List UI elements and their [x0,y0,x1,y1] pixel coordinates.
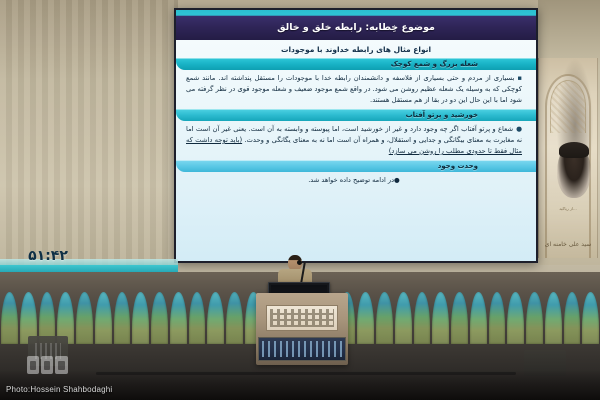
decorative-arch-panel: ...از ریاکید سید علی خامنه ای [538,58,598,258]
arch-segment [526,292,543,344]
arch-segment [395,292,412,344]
podium [256,293,348,365]
arch-segment [1,292,18,344]
section-1-text: بسیاری از مردم و حتی بسیاری از فلاسفه و … [186,74,522,104]
section-3-header: وحدت وجود [176,160,536,172]
arch-ornament [550,80,586,133]
arch-segment [432,292,449,344]
section-3-text: در ادامه توضیح داده خواهد شد. [308,176,394,184]
arch-segment [451,292,468,344]
section-2-band: خورشید و پرتو آفتاب [176,109,536,121]
podium-base [258,337,346,361]
section-1-band: شعله بزرگ و شمع کوچک [176,58,536,70]
microphone-head [297,260,302,265]
arch-segment [170,292,187,344]
countdown-timer: ۵۱:۴۲ [14,243,82,269]
arch-segment [95,292,112,344]
arch-segment [132,292,149,344]
arch-segment [470,292,487,344]
photo-credit: Photo:Hossein Shahbodaghi [6,385,112,394]
section-2-body: ●شعاع و پرتو آفتاب اگر چه وجود دارد و غی… [176,121,536,160]
section-3-bullet: ● [394,176,400,184]
arch-segment [376,292,393,344]
section-1-header: شعله بزرگ و شمع کوچک [176,58,536,70]
arch-segment [545,292,562,344]
photograph-scene: ...از ریاکید سید علی خامنه ای موضوع خِطا… [0,0,600,400]
section-1-body: ▪بسیاری از مردم و حتی بسیاری از فلاسفه و… [176,70,536,109]
panel-signature: سید علی خامنه ای [543,241,593,248]
arch-segment [582,292,599,344]
broadcaster-logo-icon [26,352,70,378]
arch-segment [357,292,374,344]
arch-segment [207,292,224,344]
portrait-turban [559,142,589,158]
section-1-label: شعله بزرگ و شمع کوچک [391,60,478,68]
projection-screen-frame: موضوع خِطابه: رابطه خلق و خالق انواع مثا… [174,8,538,263]
section-3-label: وحدت وجود [438,162,478,170]
panel-quote-line-1: ...از ریاکید [543,206,593,212]
arch-segment [564,292,581,344]
slide-title: موضوع خِطابه: رابطه خلق و خالق [277,17,435,33]
arch-segment [507,292,524,344]
arch-segment [226,292,243,344]
arch-segment [189,292,206,344]
section-3-band: وحدت وجود [176,160,536,172]
section-3-body: ●در ادامه توضیح داده خواهد شد. [176,172,536,186]
podium-front-panel [266,305,338,331]
arch-segment [414,292,431,344]
arch-segment [489,292,506,344]
slide-body: انواع مثال های رابطه خداوند با موجودات ش… [176,40,536,261]
section-1-bullet: ▪ [517,73,522,84]
projection-screen: موضوع خِطابه: رابطه خلق و خالق انواع مثا… [176,10,536,261]
left-wall [0,0,178,265]
podium-lattice [270,309,334,327]
arch-segment [76,292,93,344]
slide-title-bar: موضوع خِطابه: رابطه خلق و خالق [176,10,536,40]
slide-subtitle: انواع مثال های رابطه خداوند با موجودات [176,40,536,58]
section-2-bullet: ● [516,124,522,135]
podium-base-pattern [262,341,342,357]
section-2-label: خورشید و پرتو آفتاب [406,111,478,119]
arch-segment [114,292,131,344]
arch-segment [151,292,168,344]
section-2-header: خورشید و پرتو آفتاب [176,109,536,121]
